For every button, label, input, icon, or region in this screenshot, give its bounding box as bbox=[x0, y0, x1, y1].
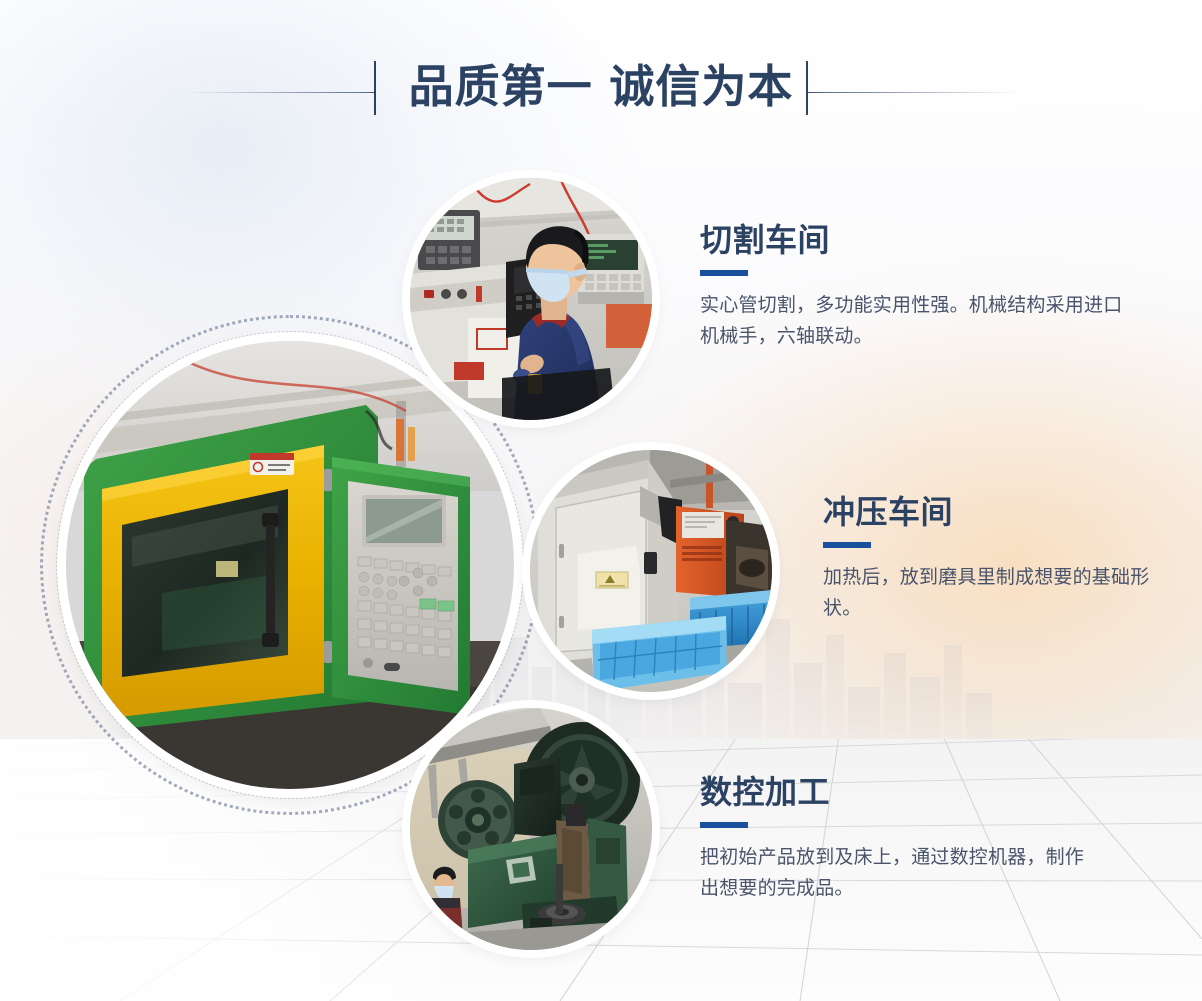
page-title: 品质第一 诚信为本 bbox=[0, 56, 1202, 118]
section-cutting: 切割车间 实心管切割，多功能实用性强。机械结构采用进口机械手，六轴联动。 bbox=[700, 220, 1130, 352]
section-stamping: 冲压车间 加热后，放到磨具里制成想要的基础形状。 bbox=[823, 492, 1183, 624]
section-2-body: 加热后，放到磨具里制成想要的基础形状。 bbox=[823, 562, 1183, 624]
header-tick-right bbox=[806, 61, 808, 115]
section-1-heading: 切割车间 bbox=[700, 220, 1130, 260]
punch-press-photo bbox=[410, 708, 652, 950]
section-3-accent-bar bbox=[700, 822, 748, 828]
cnc-lathe-operator-photo bbox=[410, 178, 652, 420]
section-cnc: 数控加工 把初始产品放到及床上，通过数控机器，制作出想要的完成品。 bbox=[700, 772, 1100, 904]
section-2-accent-bar bbox=[823, 542, 871, 548]
section-1-photo-art bbox=[410, 178, 652, 420]
stamping-workshop-photo bbox=[530, 450, 772, 692]
section-2-heading: 冲压车间 bbox=[823, 492, 1183, 532]
header-rule-right bbox=[807, 92, 1017, 93]
page-header: 品质第一 诚信为本 bbox=[0, 0, 1202, 150]
section-3-heading: 数控加工 bbox=[700, 772, 1100, 812]
promo-page: 品质第一 诚信为本 bbox=[0, 0, 1202, 1001]
section-3-body: 把初始产品放到及床上，通过数控机器，制作出想要的完成品。 bbox=[700, 842, 1100, 904]
section-1-body: 实心管切割，多功能实用性强。机械结构采用进口机械手，六轴联动。 bbox=[700, 290, 1130, 352]
section-2-photo-art bbox=[530, 450, 772, 692]
section-1-accent-bar bbox=[700, 270, 748, 276]
section-3-photo-art bbox=[410, 708, 652, 950]
